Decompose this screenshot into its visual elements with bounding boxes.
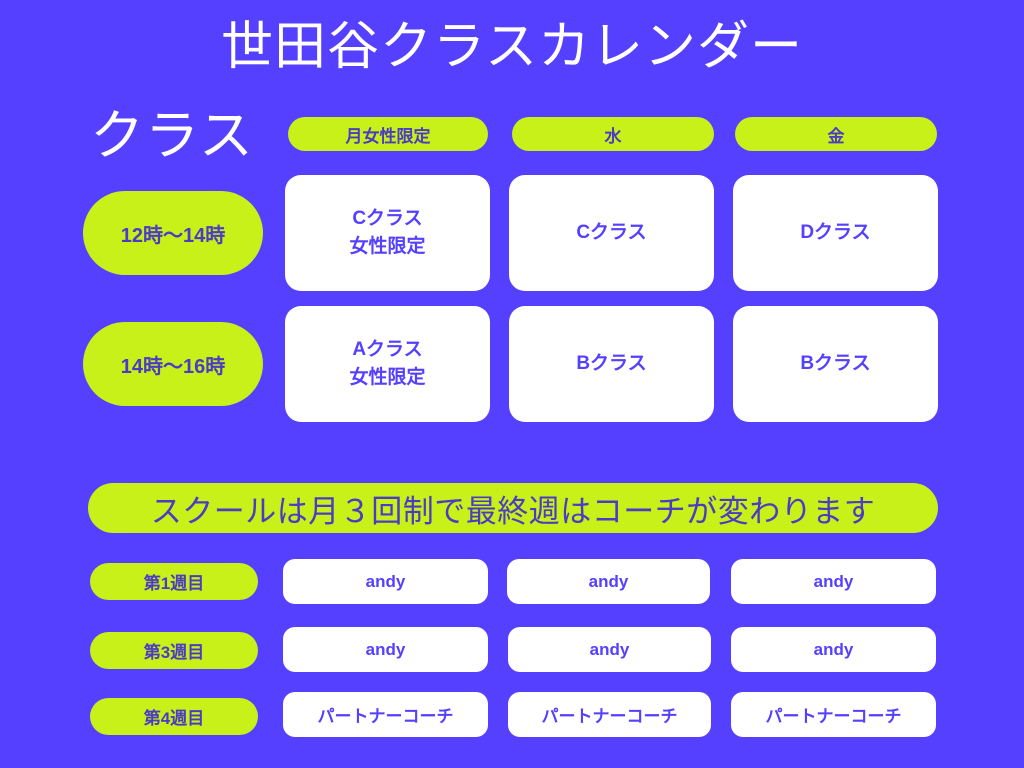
class-cell-r1c1[interactable]: Cクラス 女性限定 [285,175,490,291]
day-header-friday[interactable]: 金 [735,117,937,151]
coach-cell-w4c3[interactable]: パートナーコーチ [731,692,936,737]
class-cell-line2: 女性限定 [349,364,425,392]
class-cell-r1c3[interactable]: Dクラス [733,175,938,291]
week-label-3[interactable]: 第3週目 [90,632,258,669]
calendar-slide: 世田谷クラスカレンダー クラス 月女性限定 水 金 12時〜14時 Cクラス 女… [0,0,1024,768]
notice-banner: スクールは月３回制で最終週はコーチが変わります [88,483,938,533]
coach-cell-w1c2[interactable]: andy [507,559,710,604]
class-cell-line1: Cクラス [352,205,422,233]
coach-cell-w4c2[interactable]: パートナーコーチ [508,692,711,737]
week-label-4[interactable]: 第4週目 [90,698,258,735]
class-column-label: クラス [90,103,270,169]
class-cell-r2c3[interactable]: Bクラス [733,306,938,422]
class-cell-line2: 女性限定 [349,233,425,261]
class-cell-line1: Cクラス [576,219,646,247]
coach-cell-w4c1[interactable]: パートナーコーチ [283,692,488,737]
class-cell-r2c2[interactable]: Bクラス [509,306,714,422]
coach-cell-w3c1[interactable]: andy [283,627,488,672]
class-cell-line1: Aクラス [352,336,422,364]
page-title: 世田谷クラスカレンダー [0,14,1024,80]
week-label-1[interactable]: 第1週目 [90,563,258,600]
time-slot-2[interactable]: 14時〜16時 [83,322,263,406]
day-header-wednesday[interactable]: 水 [512,117,714,151]
class-cell-line1: Bクラス [800,350,870,378]
day-header-monday[interactable]: 月女性限定 [288,117,488,151]
coach-cell-w1c3[interactable]: andy [731,559,936,604]
coach-cell-w1c1[interactable]: andy [283,559,488,604]
time-slot-1[interactable]: 12時〜14時 [83,191,263,275]
class-cell-r2c1[interactable]: Aクラス 女性限定 [285,306,490,422]
coach-cell-w3c3[interactable]: andy [731,627,936,672]
class-cell-line1: Bクラス [576,350,646,378]
class-cell-line1: Dクラス [800,219,870,247]
coach-cell-w3c2[interactable]: andy [508,627,711,672]
class-cell-r1c2[interactable]: Cクラス [509,175,714,291]
